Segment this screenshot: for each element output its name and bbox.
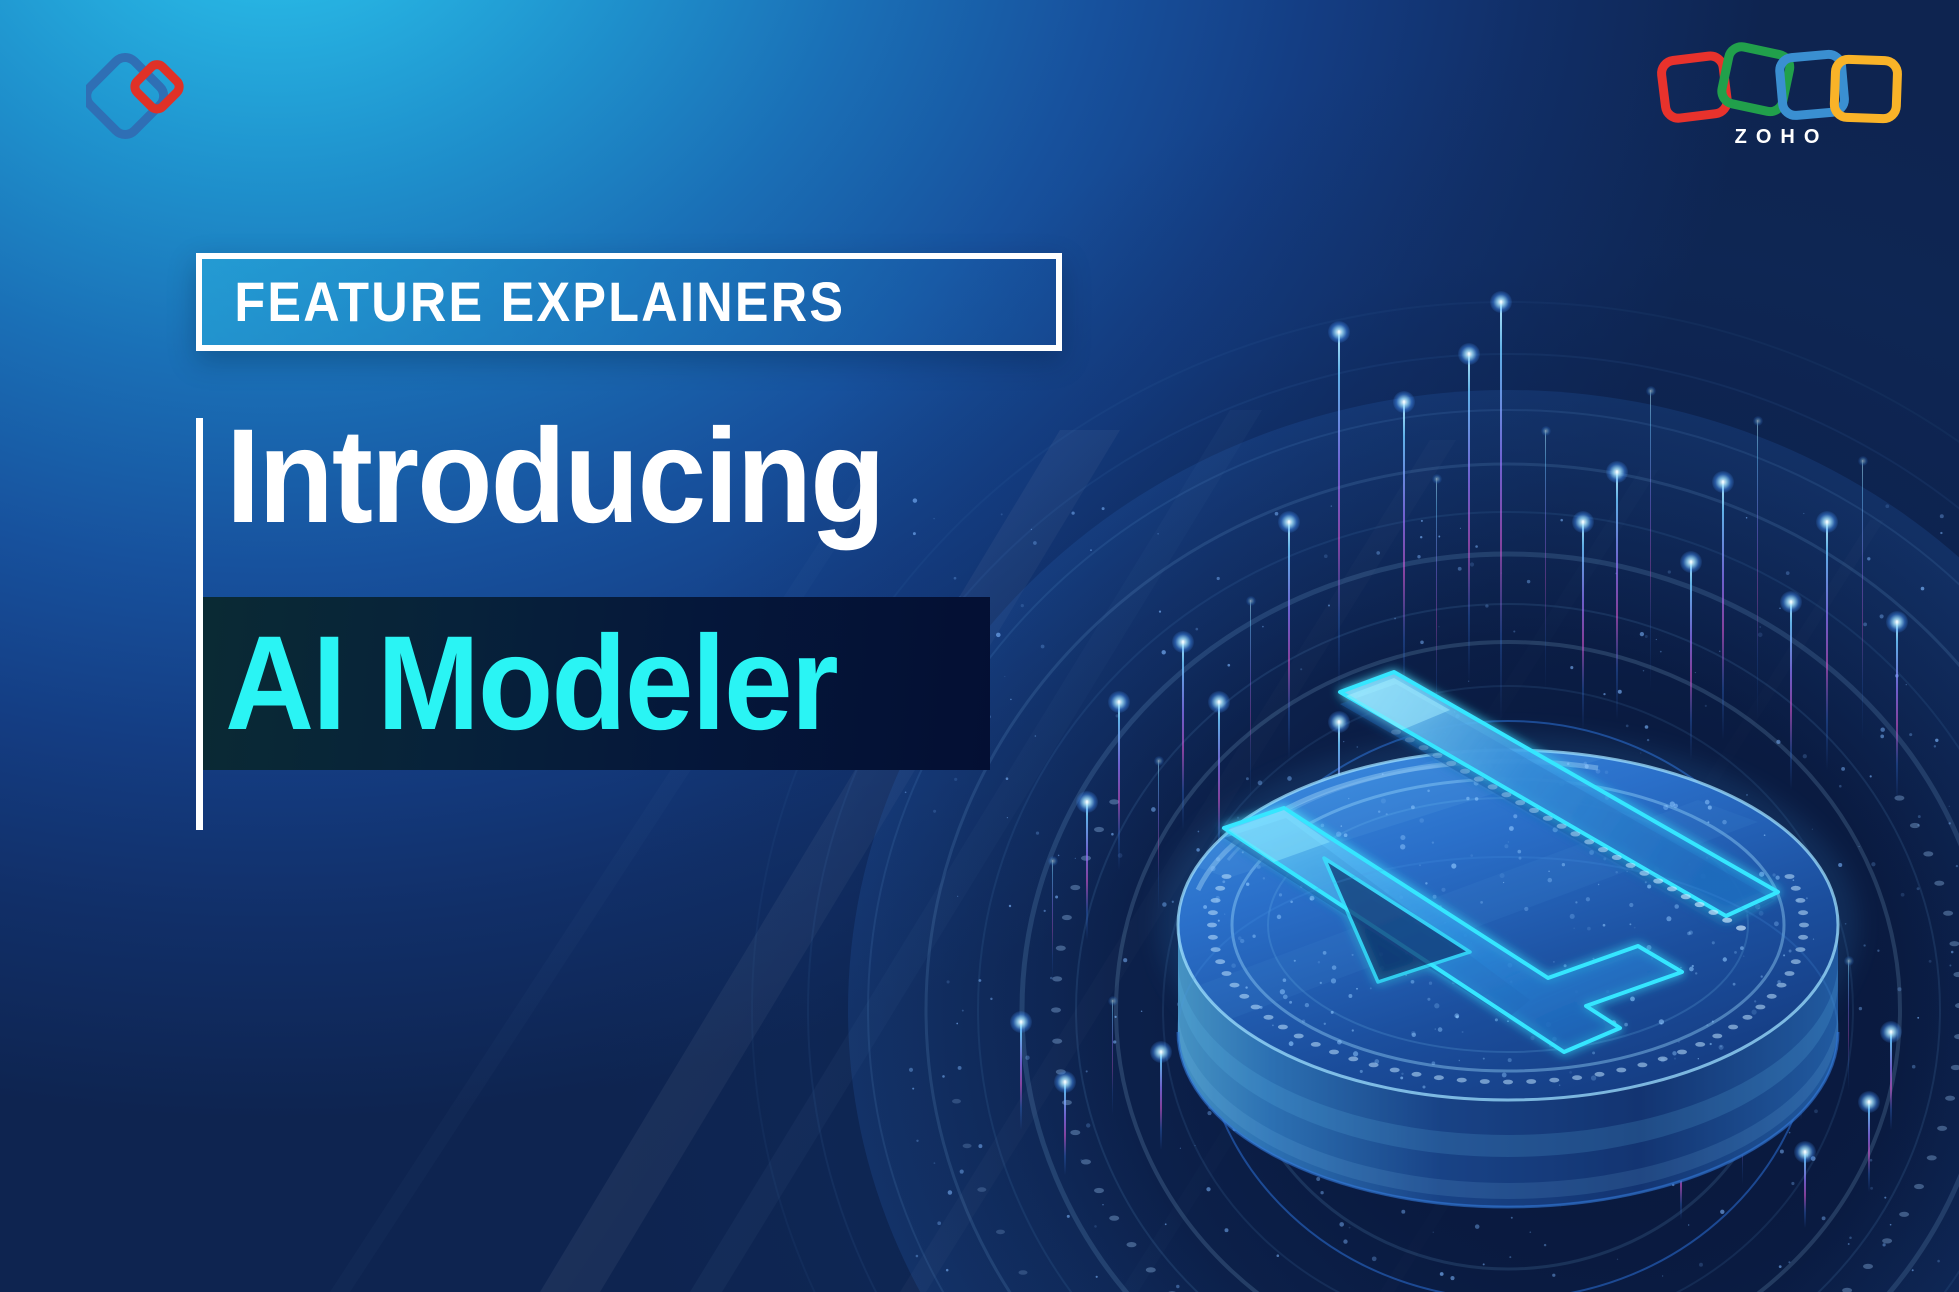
headline-line-two: AI Modeler bbox=[203, 617, 837, 751]
headline-highlight-box: AI Modeler bbox=[203, 597, 990, 770]
brand-bracket-diamond-icon bbox=[86, 40, 204, 152]
badge-label: FEATURE EXPLAINERS bbox=[202, 274, 845, 330]
headline-accent-bar bbox=[196, 418, 203, 830]
promo-banner: ZOHO FEATURE EXPLAINERS Introducing AI M… bbox=[0, 0, 1959, 1292]
zoho-logo: ZOHO bbox=[1651, 36, 1903, 156]
zoho-wordmark: ZOHO bbox=[1651, 126, 1903, 149]
ai-platform-graphic bbox=[1078, 600, 1938, 1292]
headline-line-one: Introducing bbox=[226, 410, 884, 544]
feature-explainers-badge: FEATURE EXPLAINERS bbox=[196, 253, 1062, 351]
